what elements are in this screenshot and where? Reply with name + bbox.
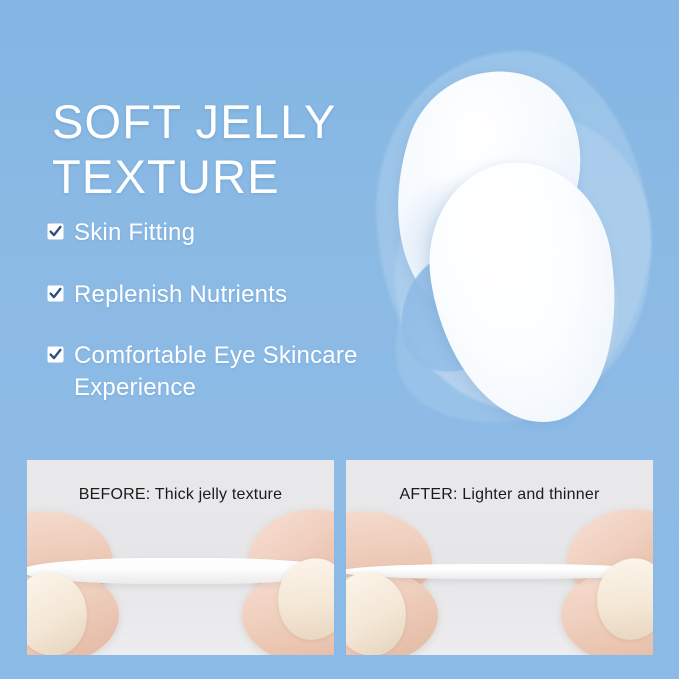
feature-list: Skin Fitting Replenish Nutrients	[47, 217, 377, 404]
page-title: SOFT JELLY TEXTURE	[52, 95, 412, 204]
feature-list-item-label: Skin Fitting	[74, 217, 195, 249]
product-feature-graphic: SOFT JELLY TEXTURE Skin Fitting	[0, 0, 679, 679]
hero-section: SOFT JELLY TEXTURE Skin Fitting	[0, 0, 679, 455]
headline-line-2: TEXTURE	[52, 150, 280, 203]
comparison-section: BEFORE: Thick jelly texture AFTER: Light…	[27, 460, 653, 655]
comparison-panel-before: BEFORE: Thick jelly texture	[27, 460, 334, 655]
comparison-panel-after: AFTER: Lighter and thinner	[346, 460, 653, 655]
comparison-caption-before: BEFORE: Thick jelly texture	[27, 486, 334, 504]
headline-line-1: SOFT JELLY	[52, 95, 337, 148]
feature-list-item: Replenish Nutrients	[47, 279, 377, 311]
feature-list-item-label: Comfortable Eye Skincare Experience	[74, 340, 377, 403]
checkbox-checked-icon	[47, 285, 64, 302]
feature-list-item: Skin Fitting	[47, 217, 377, 249]
checkbox-checked-icon	[47, 346, 64, 363]
comparison-caption-after: AFTER: Lighter and thinner	[346, 486, 653, 504]
feature-list-item-label: Replenish Nutrients	[74, 279, 287, 311]
feature-list-item: Comfortable Eye Skincare Experience	[47, 340, 377, 403]
checkbox-checked-icon	[47, 223, 64, 240]
